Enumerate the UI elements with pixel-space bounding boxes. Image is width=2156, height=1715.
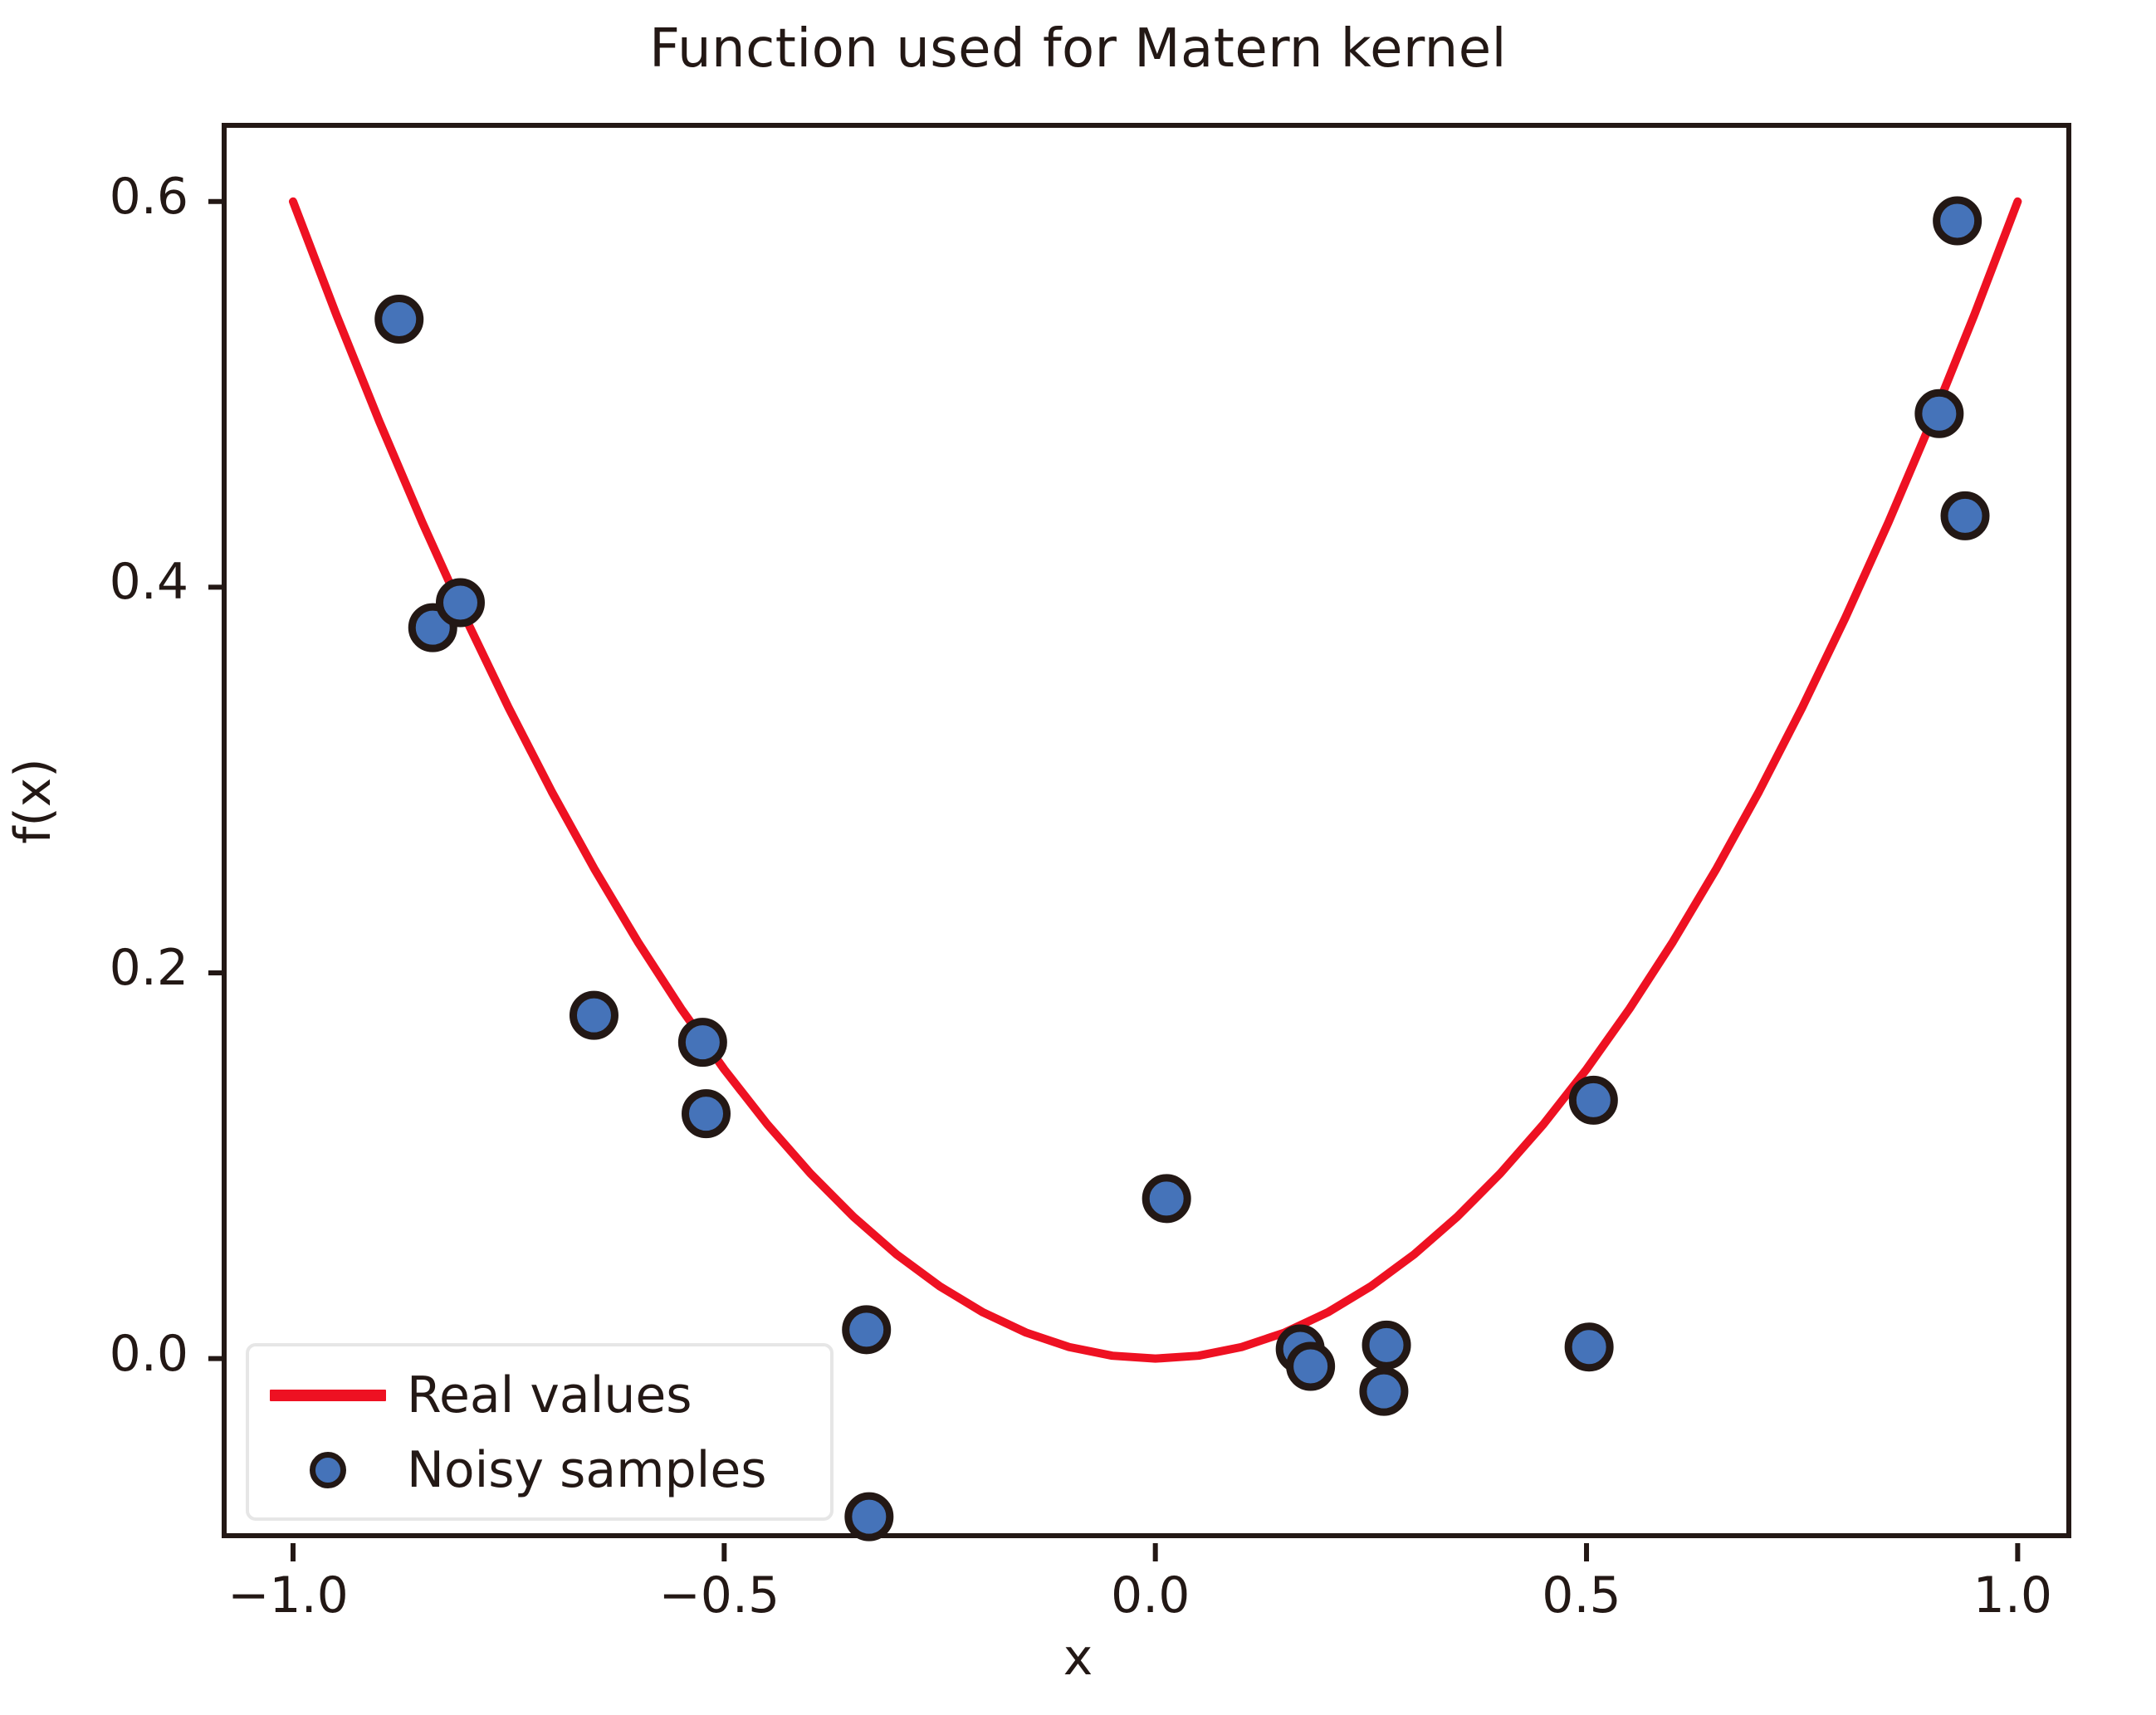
legend-item-noisy-samples[interactable]: Noisy samples (249, 1433, 830, 1507)
legend-item-real-values[interactable]: Real values (249, 1358, 830, 1433)
scatter-point (1568, 1327, 1610, 1368)
plot-area (222, 123, 2071, 1538)
scatter-point (848, 1496, 890, 1537)
scatter-point (1366, 1324, 1407, 1366)
scatter-point (1937, 200, 1978, 242)
chart-figure: Function used for Matern kernel f(x) x 0… (0, 0, 2156, 1715)
chart-title: Function used for Matern kernel (0, 18, 2156, 80)
x-tick-label: −1.0 (227, 1566, 349, 1625)
scatter-point (1363, 1371, 1405, 1412)
x-tick-label: 0.5 (1542, 1566, 1621, 1625)
legend-marker-swatch (249, 1452, 407, 1488)
y-tick-label: 0.0 (56, 1325, 188, 1383)
scatter-point (1290, 1346, 1332, 1387)
x-axis-label: x (0, 1629, 2156, 1687)
y-axis-label: f(x) (4, 718, 62, 884)
chart-legend[interactable]: Real values Noisy samples (246, 1343, 834, 1521)
y-tick-label: 0.6 (56, 168, 188, 226)
scatter-point (573, 994, 614, 1036)
scatter-point (1572, 1079, 1614, 1121)
legend-label: Real values (407, 1366, 692, 1424)
scatter-point (1146, 1178, 1187, 1219)
y-tick-label: 0.2 (56, 939, 188, 997)
legend-label: Noisy samples (407, 1441, 767, 1499)
x-tick-label: 0.0 (1111, 1566, 1190, 1625)
scatter-point (439, 582, 481, 623)
scatter-point (1919, 393, 1960, 434)
x-tick-label: 1.0 (1973, 1566, 2052, 1625)
legend-line-swatch (249, 1390, 407, 1401)
scatter-point (379, 298, 420, 340)
scatter-point (846, 1309, 887, 1351)
plot-canvas (227, 128, 2076, 1543)
scatter-point (682, 1022, 723, 1063)
y-tick-label: 0.4 (56, 553, 188, 611)
scatter-point (1944, 495, 1986, 536)
x-tick-label: −0.5 (658, 1566, 780, 1625)
series-scatter-noisy-samples (379, 200, 1986, 1537)
scatter-point (686, 1093, 727, 1135)
